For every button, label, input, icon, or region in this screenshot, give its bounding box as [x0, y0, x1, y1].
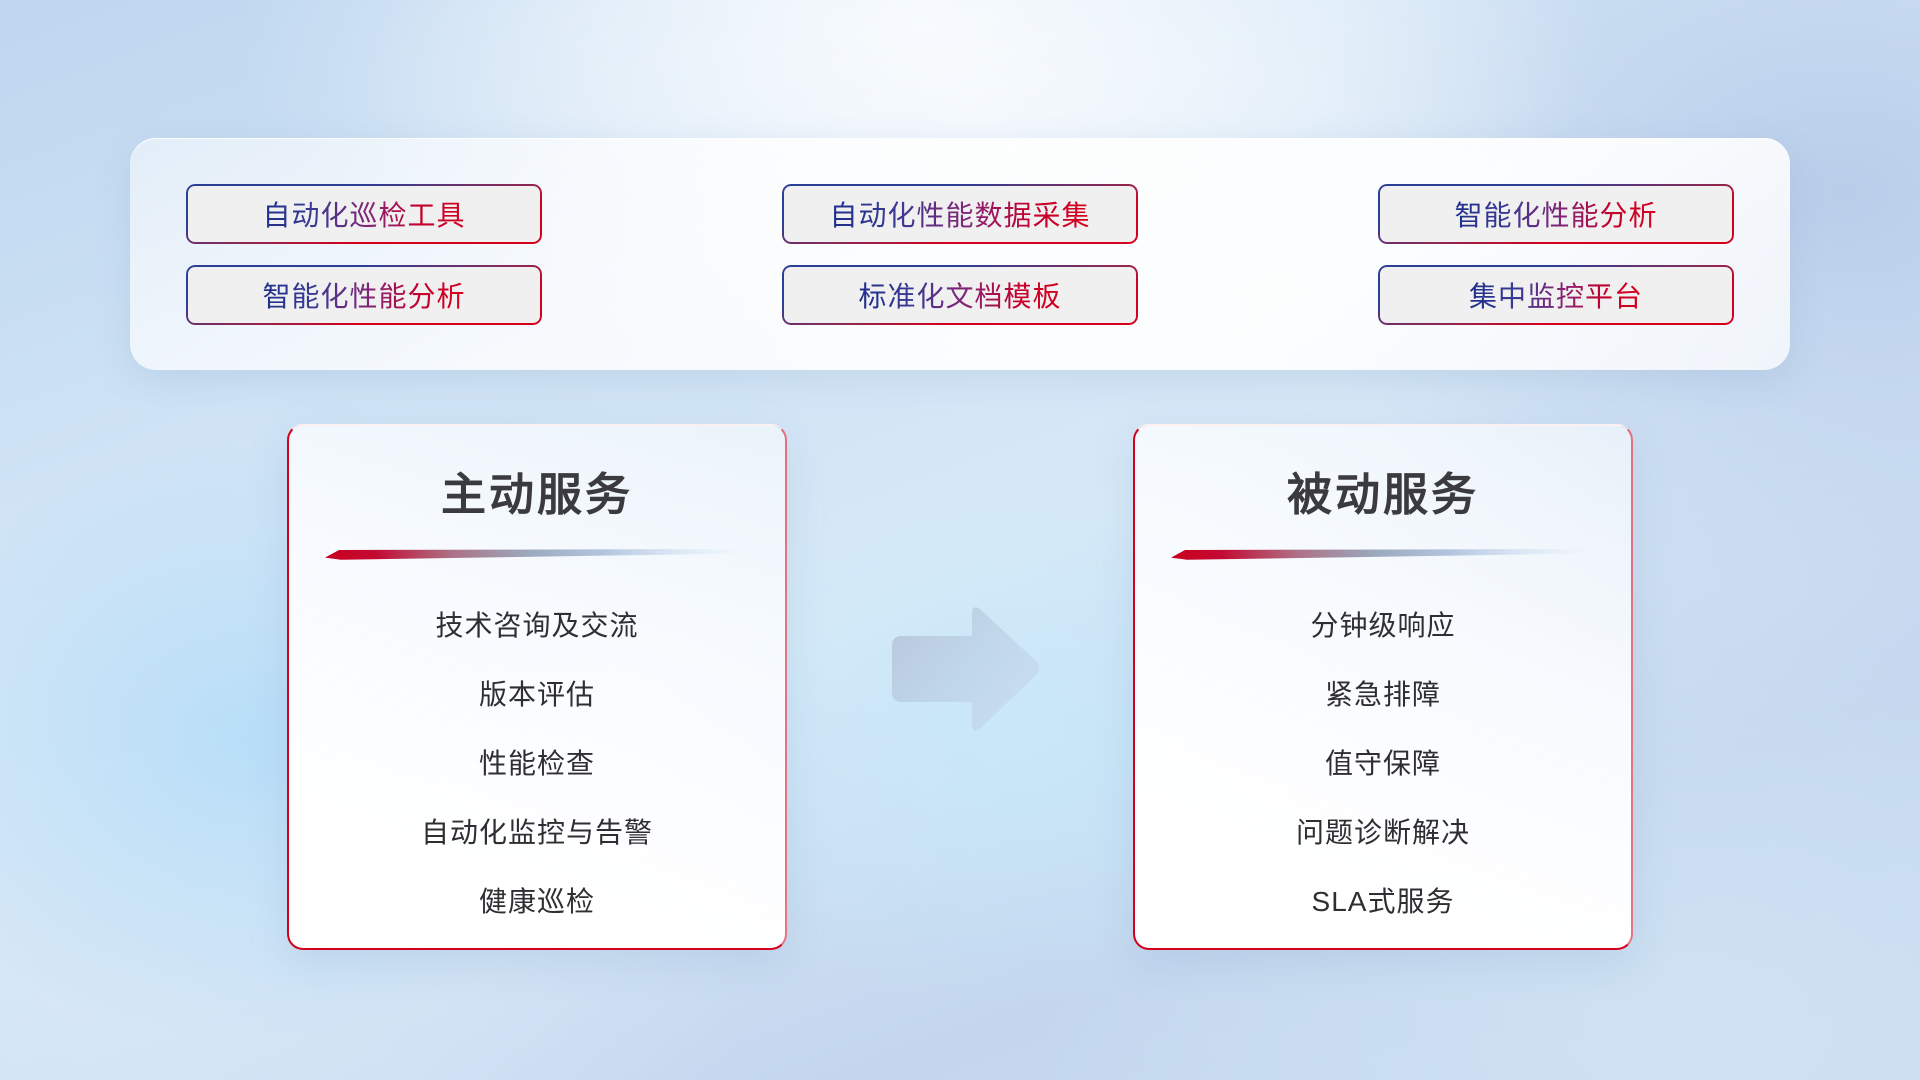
card-list: 技术咨询及交流 版本评估 性能检查 自动化监控与告警 健康巡检 [289, 604, 785, 920]
card-title: 被动服务 [1135, 458, 1631, 523]
service-card-reactive: 被动服务 分钟级响应 紧急排障 值守保障 问题诊断解决 SLA式服务 [1133, 424, 1633, 950]
list-item: 技术咨询及交流 [435, 604, 638, 644]
capability-column-1: 自动化巡检工具 智能化性能分析 [186, 184, 542, 325]
card-divider [325, 547, 749, 560]
list-item: 分钟级响应 [1310, 604, 1455, 644]
capability-pill-intelligent-performance-analysis-2[interactable]: 智能化性能分析 [1378, 184, 1734, 244]
card-title: 主动服务 [289, 458, 785, 523]
capability-pill-intelligent-performance-analysis-1[interactable]: 智能化性能分析 [186, 265, 542, 325]
capability-pill-label: 集中监控平台 [1469, 275, 1643, 315]
list-item: 自动化监控与告警 [421, 811, 653, 851]
capability-pill-label: 智能化性能分析 [1454, 194, 1657, 234]
card-list: 分钟级响应 紧急排障 值守保障 问题诊断解决 SLA式服务 [1135, 604, 1631, 920]
capability-pill-automated-performance-data-collection[interactable]: 自动化性能数据采集 [782, 184, 1138, 244]
arrow-right-icon [880, 600, 1042, 742]
list-item: SLA式服务 [1312, 880, 1455, 920]
capability-pill-label: 自动化巡检工具 [262, 194, 465, 234]
capability-panel: 自动化巡检工具 智能化性能分析 自动化性能数据采集 标准化文档模板 智能化性能分… [130, 138, 1790, 370]
capability-pill-label: 智能化性能分析 [262, 275, 465, 315]
capability-pill-automated-inspection-tool[interactable]: 自动化巡检工具 [186, 184, 542, 244]
list-item: 值守保障 [1325, 742, 1441, 782]
service-card-proactive: 主动服务 技术咨询及交流 版本评估 性能检查 自动化监控与告警 健康巡检 [287, 424, 787, 950]
list-item: 问题诊断解决 [1296, 811, 1470, 851]
capability-pill-label: 自动化性能数据采集 [829, 194, 1090, 234]
capability-column-3: 智能化性能分析 集中监控平台 [1378, 184, 1734, 325]
card-divider [1171, 547, 1595, 560]
list-item: 版本评估 [479, 673, 595, 713]
capability-pill-standardized-doc-template[interactable]: 标准化文档模板 [782, 265, 1138, 325]
capability-pill-label: 标准化文档模板 [858, 275, 1061, 315]
capability-column-2: 自动化性能数据采集 标准化文档模板 [782, 184, 1138, 325]
capability-pill-centralized-monitoring-platform[interactable]: 集中监控平台 [1378, 265, 1734, 325]
list-item: 健康巡检 [479, 880, 595, 920]
list-item: 紧急排障 [1325, 673, 1441, 713]
list-item: 性能检查 [479, 742, 595, 782]
